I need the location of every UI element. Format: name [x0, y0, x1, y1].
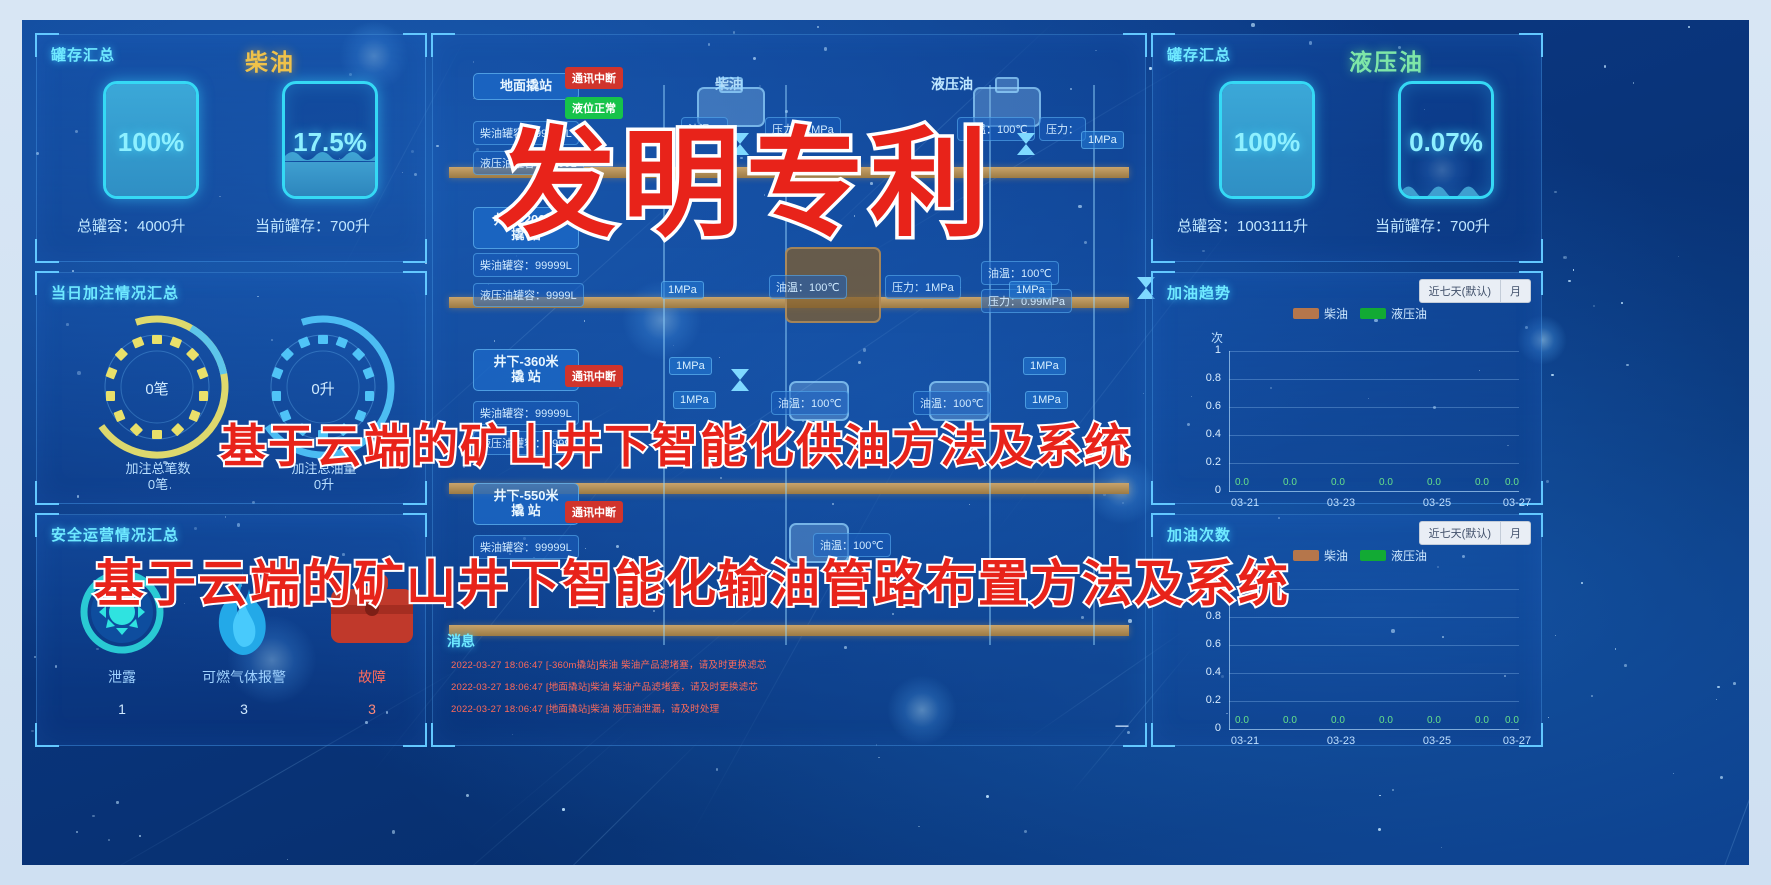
- station-readout-hydraulic-1: 液压油罐容：9999L: [473, 283, 584, 307]
- panel-corner: [1151, 723, 1175, 747]
- pressure-tag-2: 1MPa: [1009, 281, 1052, 299]
- pressure-tag-3: 1MPa: [669, 357, 712, 375]
- message-log-line-0: 2022-03-27 18:06:47 [-360m撬站]柴油 柴油产品滤堵塞，…: [451, 657, 767, 671]
- legend-label-hydraulic: 液压油: [1391, 305, 1427, 322]
- panel-hydraulic-tank: 罐存汇总 液压油 100% 0.07% 总罐容：1003111升 当前罐存：70…: [1152, 34, 1542, 262]
- tank-hydraulic-current-percent: 0.07%: [1401, 127, 1491, 158]
- range-button-seven-days[interactable]: 近七天(默认): [1420, 280, 1501, 302]
- panel-corner: [403, 723, 427, 747]
- vessel-readout-press-2: 压力：1MPa: [885, 275, 961, 299]
- panel-refuel-trend: 加油趋势 近七天(默认) 月 柴油 液压油 次: [1152, 272, 1542, 504]
- panel-title-safety: 安全运营情况汇总: [51, 524, 179, 545]
- point-label-2: 0.0: [1331, 715, 1345, 726]
- panel-diesel-tank: 罐存汇总 柴油 100% 17.5% 总罐容：4000升 当前罐存：700升: [36, 34, 426, 262]
- ytick-06: 0.6: [1187, 638, 1221, 650]
- range-button-month[interactable]: 月: [1501, 280, 1530, 302]
- gridline: [1229, 701, 1519, 702]
- gridline: [1229, 351, 1519, 352]
- message-log-line-2: 2022-03-27 18:06:47 [地面撬站]柴油 液压油泄漏，请及时处理: [451, 701, 719, 715]
- product-label-diesel: 柴油: [245, 43, 295, 77]
- panel-title-daily-fill: 当日加注情况汇总: [51, 282, 179, 303]
- panel-corner: [403, 33, 427, 57]
- chart-yaxis: [1229, 351, 1230, 492]
- legend-swatch-hydraulic: [1360, 550, 1386, 561]
- watermark-line-2: 基于云端的矿山井下智能化输油管路布置方法及系统: [94, 544, 1290, 616]
- ytick-06: 0.6: [1187, 400, 1221, 412]
- station-badge-comm-fault-3: 通讯中断: [565, 501, 623, 523]
- diesel-current-stock-label: 当前罐存：700升: [255, 215, 370, 236]
- range-button-month[interactable]: 月: [1501, 522, 1530, 544]
- chart-xaxis: [1229, 491, 1519, 492]
- xtick-0: 03-21: [1219, 497, 1271, 509]
- tank-diesel-total-percent: 100%: [106, 127, 196, 158]
- product-label-hydraulic: 液压油: [1349, 43, 1424, 77]
- panel-corner: [1151, 239, 1175, 263]
- message-log-line-1: 2022-03-27 18:06:47 [地面撬站]柴油 柴油产品滤堵塞，请及时…: [451, 679, 758, 693]
- pressure-tag-6: 1MPa: [1025, 391, 1068, 409]
- safety-label-leak: 泄露: [77, 667, 167, 687]
- point-label-1: 0.0: [1283, 477, 1297, 488]
- chart-title-refuel-trend: 加油趋势: [1167, 282, 1231, 303]
- panel-corner: [1519, 33, 1543, 57]
- chart-plot-refuel-trend: 1 0.8 0.6 0.4 0.2 0 0.0 0.0 0.0 0.0 0.0 …: [1229, 351, 1519, 491]
- legend-label-diesel: 柴油: [1324, 305, 1348, 322]
- ytick-0: 0: [1187, 484, 1221, 496]
- fill-count-caption-title: 加注总笔数: [125, 461, 190, 476]
- point-label-0: 0.0: [1235, 477, 1249, 488]
- ytick-08: 0.8: [1187, 372, 1221, 384]
- chart-xaxis: [1229, 729, 1519, 730]
- panel-corner: [403, 271, 427, 295]
- chart-title-refuel-count: 加油次数: [1167, 524, 1231, 545]
- xtick-1: 03-23: [1315, 497, 1367, 509]
- range-selector-refuel-trend[interactable]: 近七天(默认) 月: [1419, 279, 1531, 303]
- ytick-02: 0.2: [1187, 694, 1221, 706]
- point-label-1: 0.0: [1283, 715, 1297, 726]
- point-label-5: 0.0: [1475, 715, 1489, 726]
- point-label-2: 0.0: [1331, 477, 1345, 488]
- point-label-3: 0.0: [1379, 477, 1393, 488]
- panel-corner: [35, 723, 59, 747]
- panel-corner: [431, 33, 455, 57]
- tank-fill: [285, 162, 375, 196]
- point-label-6: 0.0: [1505, 477, 1519, 488]
- range-button-seven-days[interactable]: 近七天(默认): [1420, 522, 1501, 544]
- gauge-fill-volume-value: 0升: [249, 378, 397, 399]
- legend-swatch-diesel: [1293, 550, 1319, 561]
- gridline: [1229, 407, 1519, 408]
- tank-hydraulic-current[interactable]: 0.07%: [1398, 81, 1494, 199]
- gridline: [1229, 463, 1519, 464]
- panel-title-hydraulic-tank: 罐存汇总: [1167, 44, 1231, 65]
- xtick-3: 03-27: [1491, 497, 1543, 509]
- ytick-1: 1: [1187, 344, 1221, 356]
- point-label-4: 0.0: [1427, 715, 1441, 726]
- zoom-out-button[interactable]: －: [1113, 713, 1131, 739]
- safety-label-gas-alarm: 可燃气体报警: [179, 667, 309, 687]
- panel-corner: [1151, 481, 1175, 505]
- fill-count-caption: 加注总笔数 0笔: [103, 461, 213, 494]
- valve-icon[interactable]: [729, 367, 751, 393]
- safety-value-gas-alarm: 3: [179, 701, 309, 717]
- screenshot-root: 罐存汇总 柴油 100% 17.5% 总罐容：4000升 当前罐存：700升 当: [0, 0, 1771, 885]
- gauge-fill-count-value: 0笔: [83, 378, 231, 399]
- legend-item-hydraulic[interactable]: 液压油: [1360, 547, 1427, 564]
- ytick-04: 0.4: [1187, 666, 1221, 678]
- diesel-total-capacity-label: 总罐容：4000升: [77, 215, 185, 236]
- watermark-line-1: 基于云端的矿山井下智能化供油方法及系统: [220, 410, 1132, 476]
- valve-icon[interactable]: [1015, 131, 1037, 157]
- message-log-title: 消息: [447, 631, 475, 651]
- legend-swatch-diesel: [1293, 308, 1319, 319]
- range-selector-refuel-count[interactable]: 近七天(默认) 月: [1419, 521, 1531, 545]
- legend-label-diesel: 柴油: [1324, 547, 1348, 564]
- xtick-2: 03-25: [1411, 497, 1463, 509]
- ytick-02: 0.2: [1187, 456, 1221, 468]
- legend-swatch-hydraulic: [1360, 308, 1386, 319]
- dashboard-screen: 罐存汇总 柴油 100% 17.5% 总罐容：4000升 当前罐存：700升 当: [22, 20, 1749, 865]
- panel-corner: [35, 239, 59, 263]
- point-label-3: 0.0: [1379, 715, 1393, 726]
- pressure-tag-0: 1MPa: [1081, 131, 1124, 149]
- tank-diesel-current-percent: 17.5%: [285, 127, 375, 158]
- safety-label-fault: 故障: [327, 667, 417, 687]
- panel-corner: [403, 481, 427, 505]
- station-name-minus360[interactable]: 井下-360米 撬 站: [473, 349, 579, 391]
- pressure-tag-1: 1MPa: [661, 281, 704, 299]
- station-name-minus550[interactable]: 井下-550米 撬 站: [473, 483, 579, 525]
- fill-volume-caption-value: 0升: [314, 477, 334, 492]
- vessel-readout-press-1: 压力：: [1039, 117, 1086, 141]
- safety-value-fault: 3: [327, 701, 417, 717]
- hydraulic-total-capacity-label: 总罐容：1003111升: [1177, 215, 1308, 236]
- point-label-5: 0.0: [1475, 477, 1489, 488]
- panel-corner: [35, 481, 59, 505]
- xtick-1: 03-23: [1315, 735, 1367, 747]
- tank-hydraulic-total-percent: 100%: [1222, 127, 1312, 158]
- point-label-4: 0.0: [1427, 477, 1441, 488]
- station-badge-comm-fault-2: 通讯中断: [565, 365, 623, 387]
- panel-corner: [1519, 239, 1543, 263]
- gridline: [1229, 435, 1519, 436]
- gridline: [1229, 617, 1519, 618]
- ytick-04: 0.4: [1187, 428, 1221, 440]
- chart-legend-refuel-count: 柴油 液压油: [1293, 547, 1427, 564]
- gauge-fill-count[interactable]: 0笔: [83, 313, 231, 461]
- panel-corner: [403, 513, 427, 537]
- xtick-2: 03-25: [1411, 735, 1463, 747]
- xtick-0: 03-21: [1219, 735, 1271, 747]
- panel-corner: [403, 239, 427, 263]
- gridline: [1229, 645, 1519, 646]
- legend-item-diesel[interactable]: 柴油: [1293, 305, 1348, 322]
- tank-diesel-current[interactable]: 17.5%: [282, 81, 378, 199]
- safety-value-leak: 1: [77, 701, 167, 717]
- point-label-6: 0.0: [1505, 715, 1519, 726]
- station-badge-comm-fault-0: 通讯中断: [565, 67, 623, 89]
- pressure-tag-4: 1MPa: [1023, 357, 1066, 375]
- legend-item-hydraulic[interactable]: 液压油: [1360, 305, 1427, 322]
- gridline: [1229, 379, 1519, 380]
- gridline: [1229, 673, 1519, 674]
- ytick-0: 0: [1187, 722, 1221, 734]
- tank-wave-icon: [1401, 178, 1491, 196]
- fill-count-caption-value: 0笔: [148, 477, 168, 492]
- message-log: 消息 2022-03-27 18:06:47 [-360m撬站]柴油 柴油产品滤…: [447, 631, 1127, 731]
- tank-hydraulic-total[interactable]: 100%: [1219, 81, 1315, 199]
- legend-item-diesel[interactable]: 柴油: [1293, 547, 1348, 564]
- xtick-3: 03-27: [1491, 735, 1543, 747]
- legend-label-hydraulic: 液压油: [1391, 547, 1427, 564]
- chart-legend-refuel-trend: 柴油 液压油: [1293, 305, 1427, 322]
- tank-diesel-total[interactable]: 100%: [103, 81, 199, 199]
- panel-corner: [1123, 33, 1147, 57]
- pressure-tag-5: 1MPa: [673, 391, 716, 409]
- point-label-0: 0.0: [1235, 715, 1249, 726]
- panel-title-diesel-tank: 罐存汇总: [51, 44, 115, 65]
- watermark-patent-title: 发明专利: [498, 88, 994, 259]
- vessel-cap-1: [995, 77, 1019, 93]
- vessel-readout-temp-2: 油温：100℃: [769, 275, 847, 299]
- hydraulic-current-stock-label: 当前罐存：700升: [1375, 215, 1490, 236]
